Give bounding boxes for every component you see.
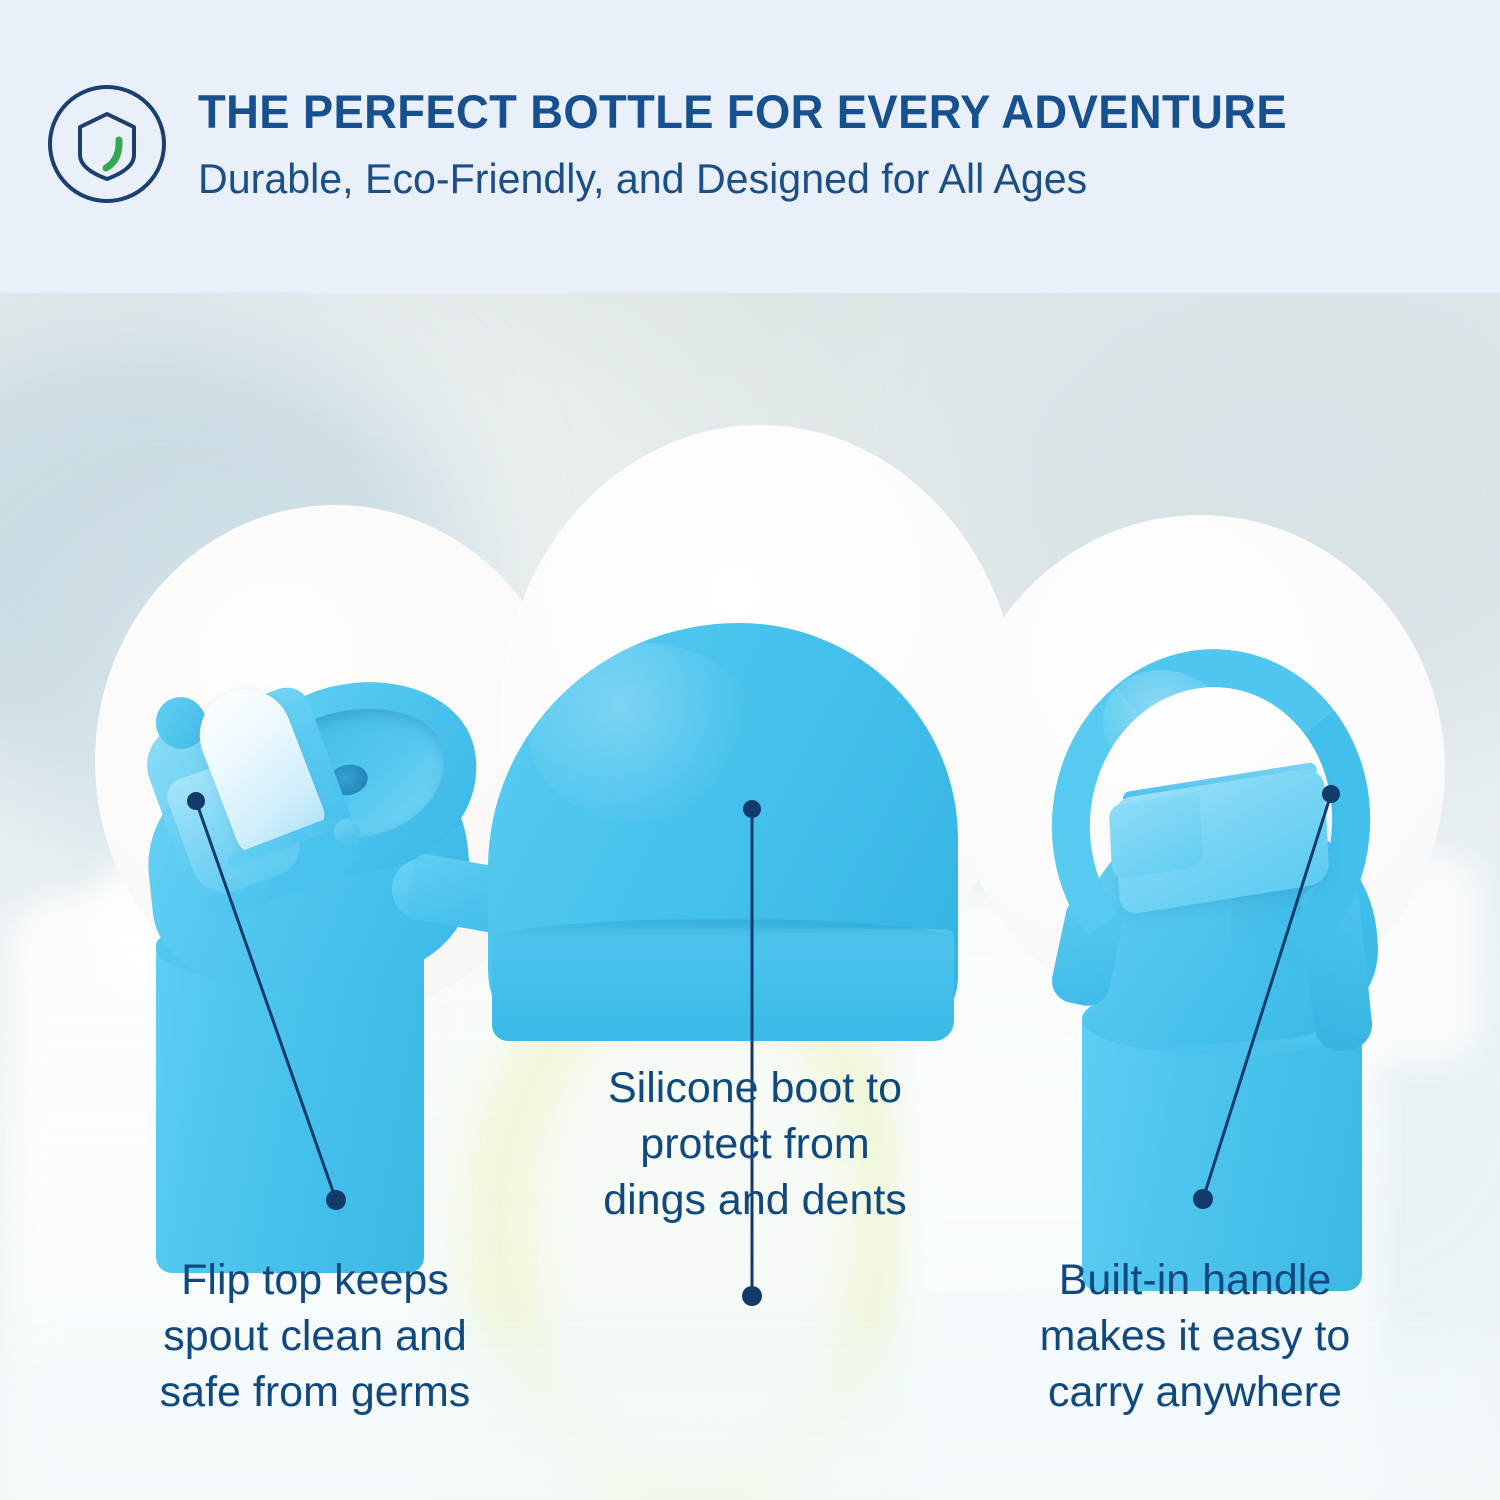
infographic-page: THE PERFECT BOTTLE FOR EVERY ADVENTURE D…	[0, 0, 1500, 1500]
page-title: THE PERFECT BOTTLE FOR EVERY ADVENTURE	[198, 88, 1287, 136]
flip-flap-tab	[1109, 792, 1204, 881]
product-photo-stage: Flip top keeps spout clean and safe from…	[0, 293, 1500, 1500]
page-subtitle: Durable, Eco-Friendly, and Designed for …	[198, 157, 1304, 201]
feature-caption-handle: Built-in handle makes it easy to carry a…	[960, 1253, 1430, 1421]
header-text-block: THE PERFECT BOTTLE FOR EVERY ADVENTURE D…	[198, 88, 1327, 201]
shield-check-icon	[46, 83, 168, 205]
product-image-handle-cap	[990, 611, 1420, 1311]
cap-barrel	[156, 943, 424, 1273]
product-image-silicone-boot	[488, 623, 998, 1093]
boot-base-band	[492, 929, 954, 1041]
lid-arm-pivot	[334, 819, 360, 845]
header-banner: THE PERFECT BOTTLE FOR EVERY ADVENTURE D…	[0, 0, 1500, 293]
feature-caption-silicone-boot: Silicone boot to protect from dings and …	[520, 1061, 990, 1229]
boot-highlight	[528, 643, 758, 823]
feature-caption-flip-top: Flip top keeps spout clean and safe from…	[80, 1253, 550, 1421]
